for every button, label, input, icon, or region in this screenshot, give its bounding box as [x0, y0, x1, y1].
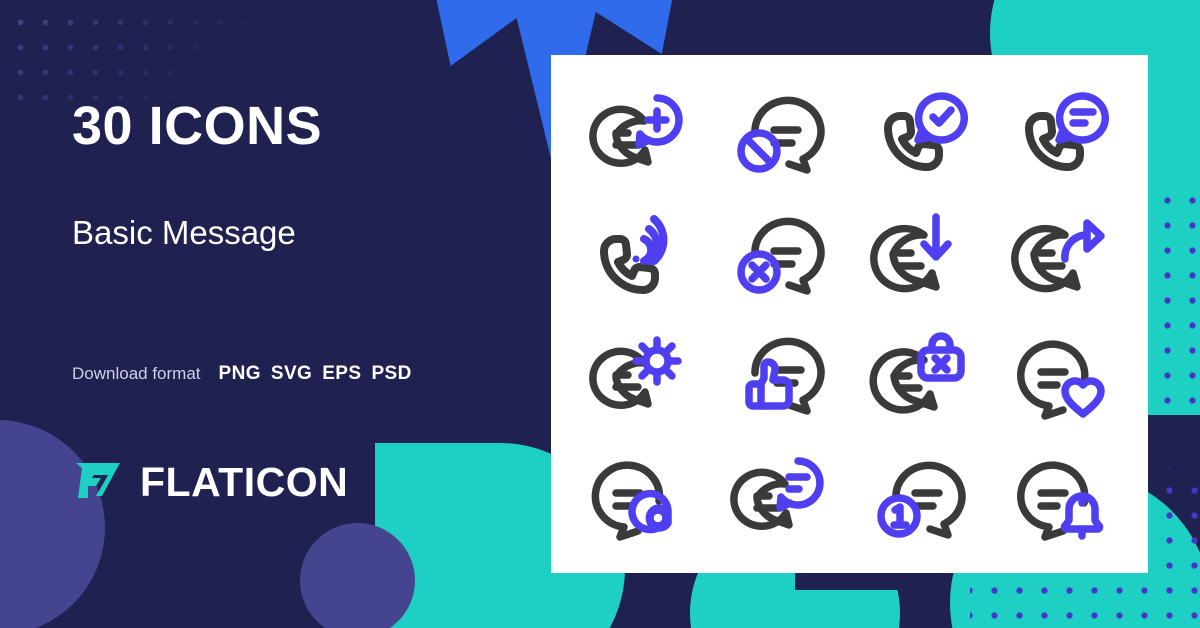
download-format-label: Download format: [72, 364, 201, 384]
flaticon-logo-icon: [72, 458, 124, 507]
chat-locked-icon: [850, 315, 991, 436]
promo-banner: 30 ICONS Basic Message Download format P…: [0, 0, 1200, 628]
chat-notification-icon: [991, 436, 1132, 557]
page-subtitle: Basic Message: [72, 214, 296, 252]
call-accepted-icon: [850, 73, 991, 194]
brand-lockup: FLATICON: [72, 458, 348, 507]
format-svg: SVG: [271, 363, 312, 385]
chat-forward-icon: [991, 194, 1132, 315]
chat-download-icon: [850, 194, 991, 315]
purple-circle-left: [0, 420, 105, 628]
chat-blocked-icon: [708, 73, 849, 194]
chat-mention-icon: [567, 436, 708, 557]
chat-settings-icon: [567, 315, 708, 436]
chat-add-icon: [567, 73, 708, 194]
icon-preview-card: [551, 55, 1148, 573]
format-png: PNG: [219, 363, 261, 385]
chat-double-icon: [708, 436, 849, 557]
icon-grid: [567, 73, 1132, 557]
format-psd: PSD: [371, 363, 411, 385]
purple-circle-bottom: [300, 523, 415, 628]
chat-like-icon: [708, 315, 849, 436]
chat-favorite-icon: [991, 315, 1132, 436]
call-signal-icon: [567, 194, 708, 315]
chat-unread-icon: [850, 436, 991, 557]
download-formats: Download format PNG SVG EPS PSD: [72, 363, 412, 385]
chat-delete-icon: [708, 194, 849, 315]
call-message-icon: [991, 73, 1132, 194]
info-column: 30 ICONS Basic Message Download format P…: [72, 98, 532, 155]
page-title: 30 ICONS: [72, 98, 532, 155]
format-eps: EPS: [322, 363, 361, 385]
brand-name: FLATICON: [140, 462, 348, 503]
